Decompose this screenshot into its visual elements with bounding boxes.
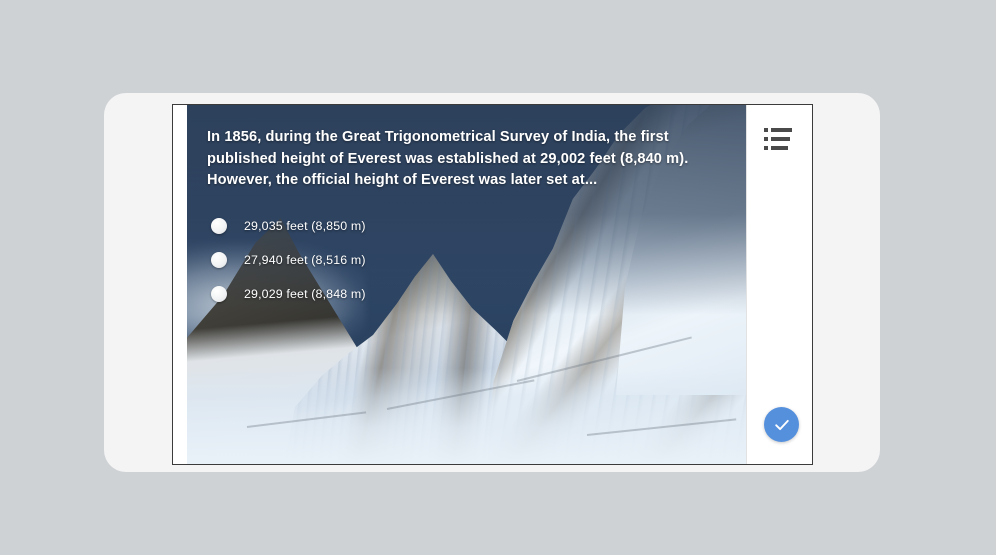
radio-button-icon[interactable] [211, 252, 227, 268]
check-icon [772, 415, 792, 435]
list-icon-row [764, 146, 792, 150]
list-icon-bullet [764, 137, 768, 141]
side-panel [746, 105, 812, 464]
list-icon-row [764, 137, 792, 141]
list-icon-bullet [764, 146, 768, 150]
answer-option-1[interactable]: 29,035 feet (8,850 m) [211, 209, 641, 243]
radio-button-icon[interactable] [211, 218, 227, 234]
list-icon-row [764, 128, 792, 132]
answer-option-2[interactable]: 27,940 feet (8,516 m) [211, 243, 641, 277]
quiz-card: In 1856, during the Great Trigonometrica… [172, 104, 813, 465]
answer-option-label: 27,940 feet (8,516 m) [244, 253, 366, 267]
list-icon-line [771, 146, 788, 150]
quiz-slide: In 1856, during the Great Trigonometrica… [187, 105, 746, 464]
lower-snowfield [187, 368, 746, 464]
answer-option-3[interactable]: 29,029 feet (8,848 m) [211, 277, 641, 311]
submit-answer-button[interactable] [764, 407, 799, 442]
list-icon-line [771, 137, 790, 141]
card-left-gutter [173, 105, 187, 464]
list-view-button[interactable] [764, 128, 792, 150]
question-text: In 1856, during the Great Trigonometrica… [207, 127, 725, 192]
question-block: In 1856, during the Great Trigonometrica… [207, 127, 725, 192]
radio-button-icon[interactable] [211, 286, 227, 302]
list-icon-bullet [764, 128, 768, 132]
answer-option-label: 29,035 feet (8,850 m) [244, 219, 366, 233]
answer-options-list: 29,035 feet (8,850 m) 27,940 feet (8,516… [211, 209, 641, 311]
answer-option-label: 29,029 feet (8,848 m) [244, 287, 366, 301]
list-icon-line [771, 128, 792, 132]
